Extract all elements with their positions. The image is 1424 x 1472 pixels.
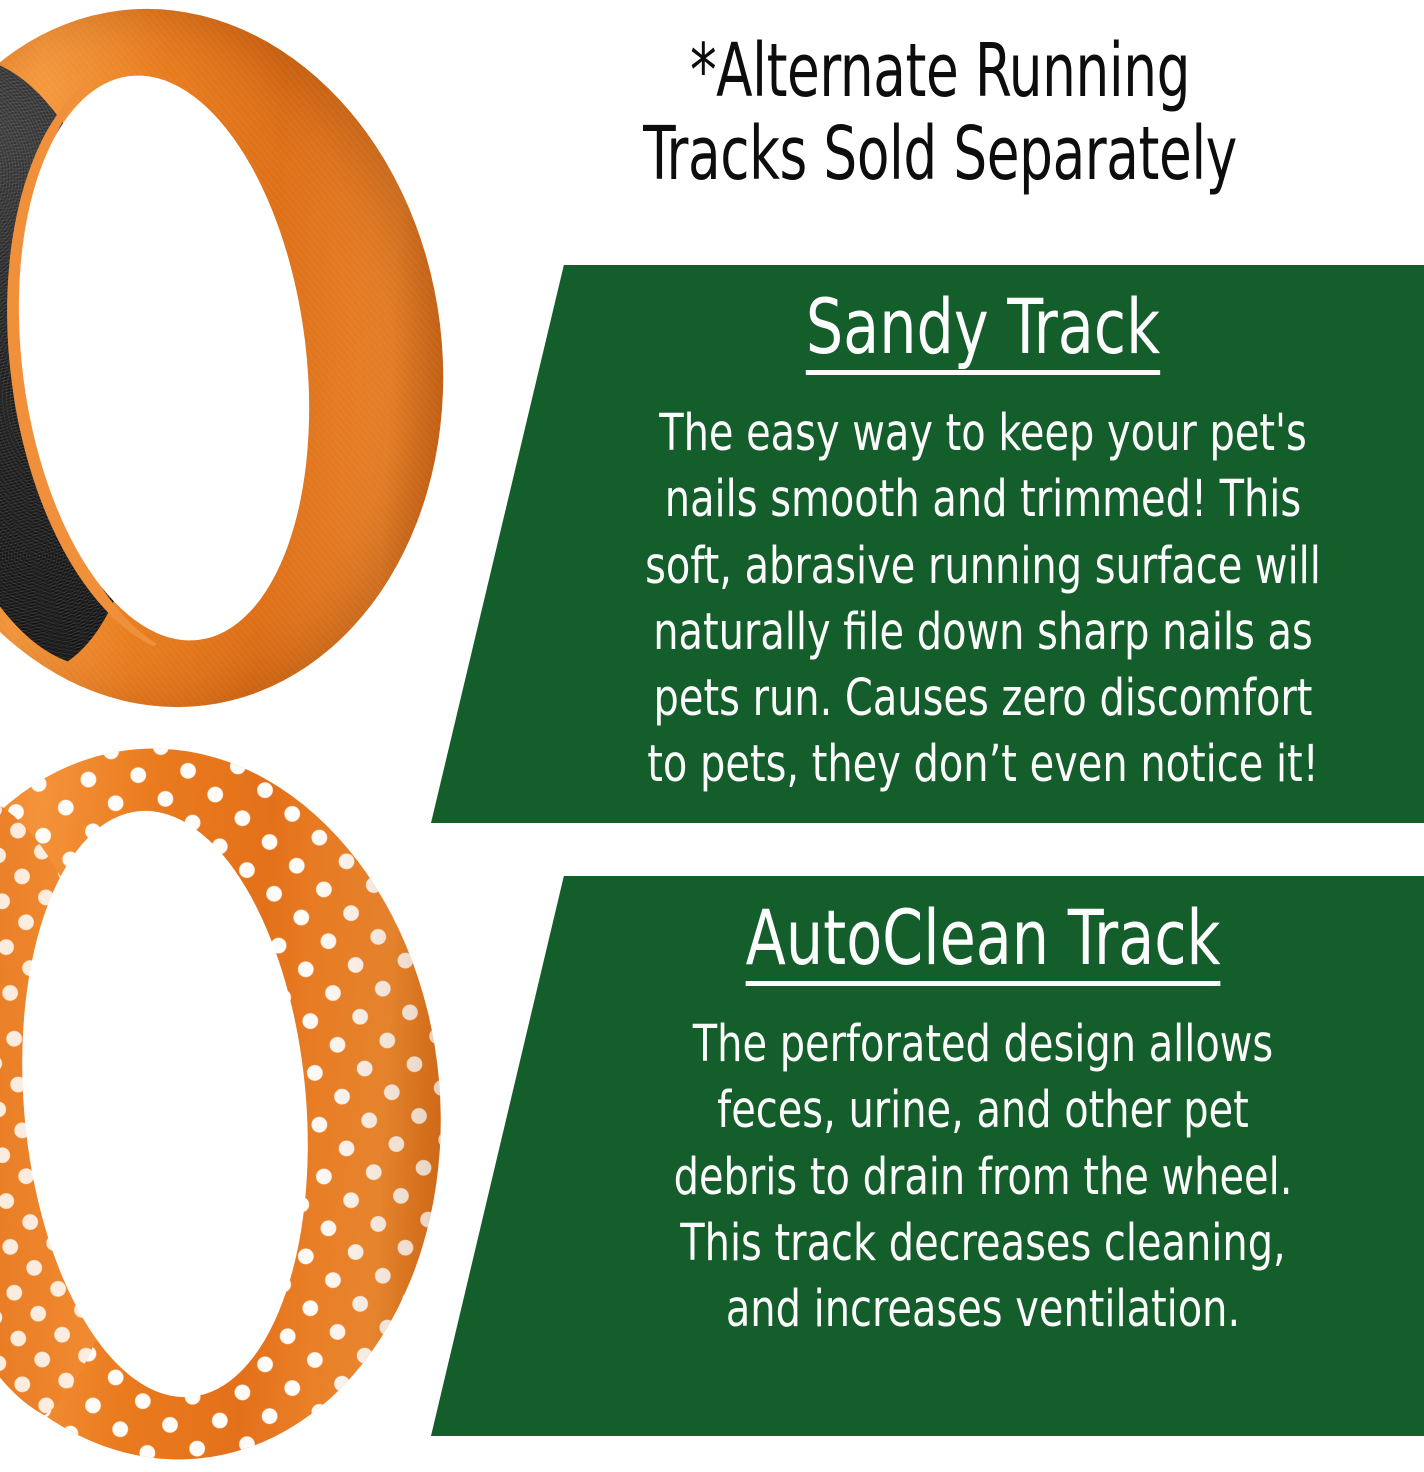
feature-panel-autoclean-track-body: The perforated design allows feces, urin… <box>624 1012 1343 1343</box>
feature-panel-sandy-track-content: Sandy Track The easy way to keep your pe… <box>570 265 1396 799</box>
page-title: *Alternate Running Tracks Sold Separatel… <box>564 30 1316 196</box>
feature-panel-autoclean-track-content: AutoClean Track The perforated design al… <box>570 876 1396 1343</box>
feature-panel-sandy-track: Sandy Track The easy way to keep your pe… <box>425 265 1424 823</box>
feature-panel-sandy-track-title: Sandy Track <box>806 289 1160 375</box>
product-image-sandy-track <box>0 8 442 708</box>
feature-panel-autoclean-track: AutoClean Track The perforated design al… <box>425 876 1424 1436</box>
feature-panel-sandy-track-body: The easy way to keep your pet's nails sm… <box>624 401 1343 799</box>
infographic-page: *Alternate Running Tracks Sold Separatel… <box>0 0 1424 1472</box>
feature-panel-autoclean-track-title: AutoClean Track <box>746 900 1221 986</box>
product-image-autoclean-track <box>0 748 440 1460</box>
